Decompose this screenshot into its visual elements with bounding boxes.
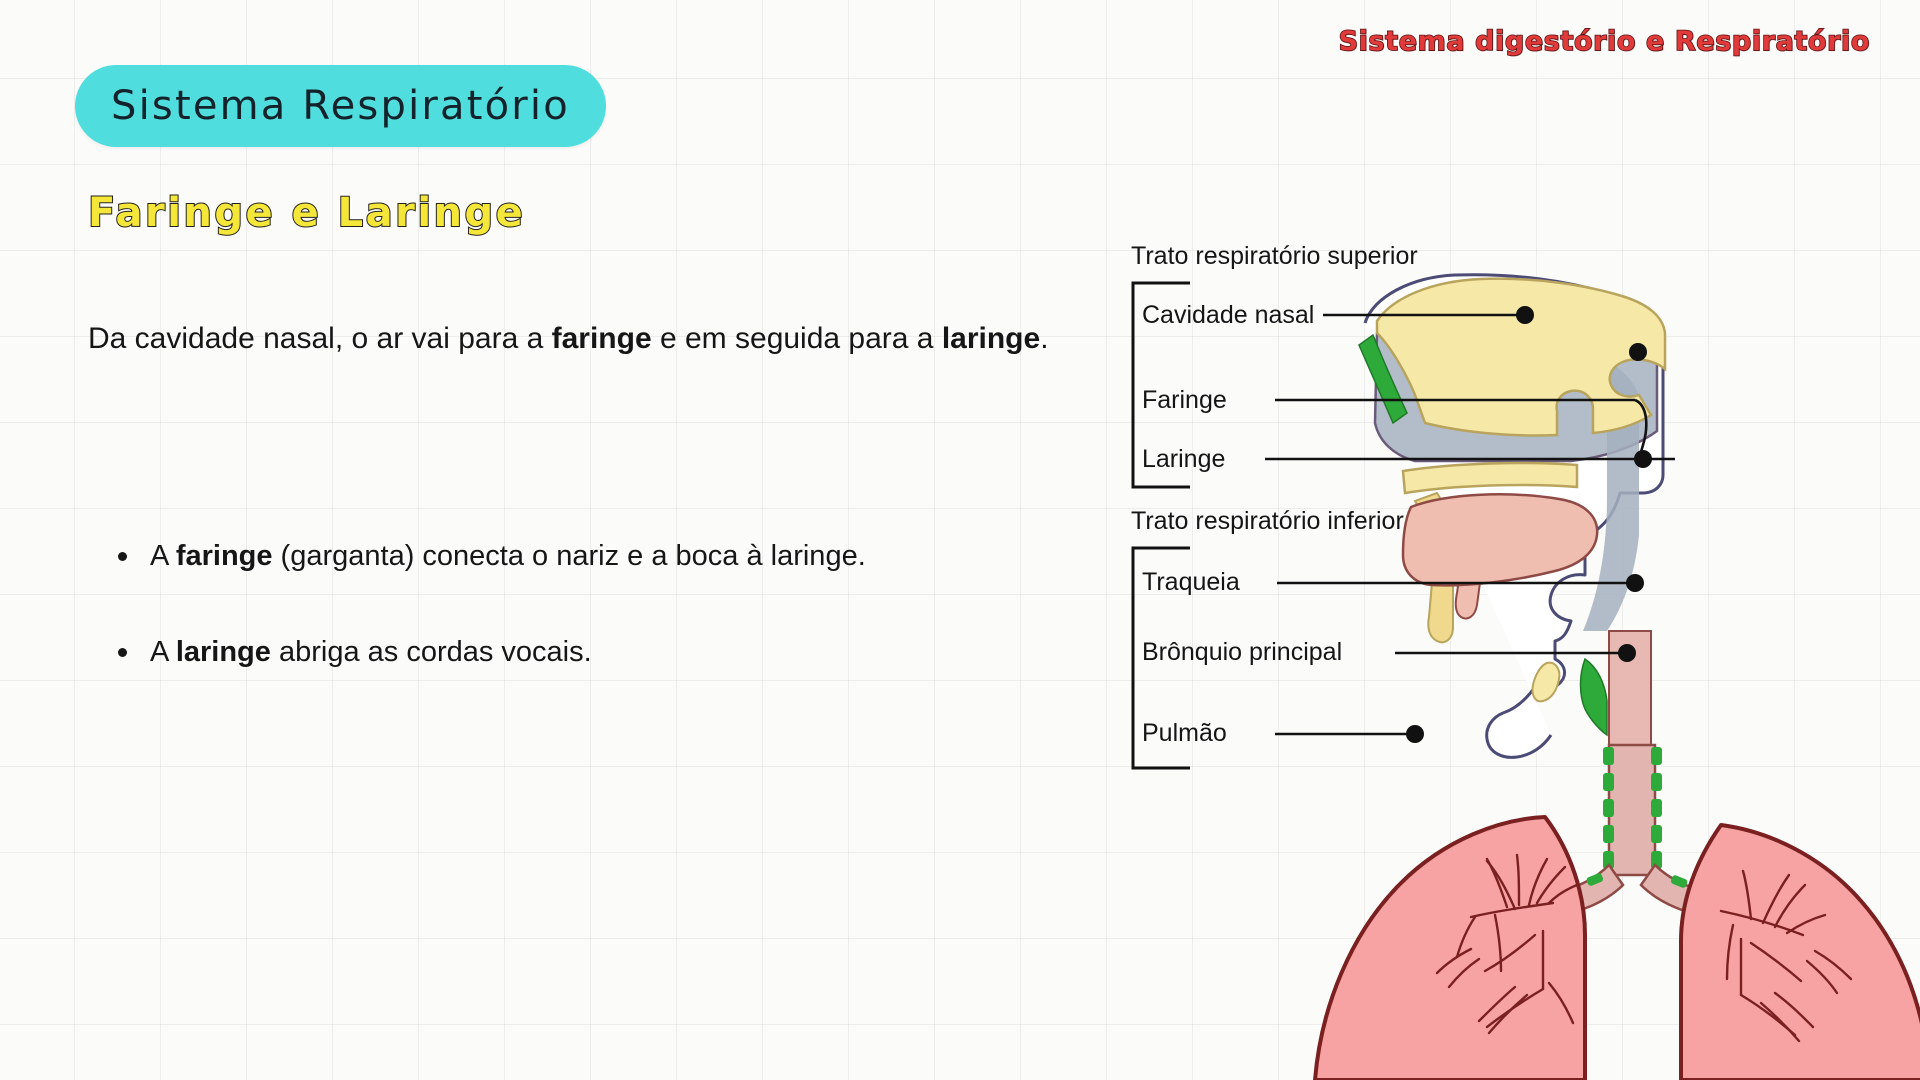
diagram-group-title-lower: Trato respiratório inferior <box>1131 507 1404 536</box>
larynx-mucosa <box>1581 659 1608 735</box>
bullet-1-bold: faringe <box>176 540 273 572</box>
bullet-2-text-part-2: abriga as cordas vocais. <box>271 636 592 668</box>
bullet-2-text-part-1: A <box>150 636 176 668</box>
page-title: Sistema Respiratório <box>111 83 570 129</box>
lead-text-part-1: Da cavidade nasal, o ar vai para a <box>88 322 552 355</box>
dot-cavidade-nasal <box>1516 306 1534 324</box>
diagram-label-laringe: Laringe <box>1142 445 1225 474</box>
dot-laringe <box>1634 450 1652 468</box>
trachea <box>1603 745 1662 875</box>
lead-paragraph: Da cavidade nasal, o ar vai para a farin… <box>88 320 1098 358</box>
right-lung <box>1681 825 1920 1080</box>
trachea-tube <box>1609 745 1655 875</box>
frontal-sinus-bone <box>1377 279 1665 436</box>
page-title-badge: Sistema Respiratório <box>75 65 606 147</box>
diagram-label-traqueia: Traqueia <box>1142 568 1240 597</box>
dot-bronquio <box>1618 644 1636 662</box>
head-cross-section <box>1359 275 1665 758</box>
section-heading: Faringe e Laringe <box>88 190 525 236</box>
diagram-label-faringe: Faringe <box>1142 386 1227 415</box>
left-lung <box>1315 817 1585 1080</box>
bullet-1-text-part-2: (garganta) conecta o nariz e a boca à la… <box>273 540 866 572</box>
lead-bold-laringe: laringe <box>942 322 1040 355</box>
dot-pulmao <box>1406 725 1424 743</box>
list-item: A faringe (garganta) conecta o nariz e a… <box>110 538 1100 574</box>
bullet-1-text-part-1: A <box>150 540 176 572</box>
diagram-label-bronquio-principal: Brônquio principal <box>1142 638 1342 667</box>
diagram-group-title-upper: Trato respiratório superior <box>1131 242 1418 271</box>
respiratory-system-diagram: Trato respiratório superior Trato respir… <box>1115 235 1920 1080</box>
lead-text-part-3: . <box>1040 322 1048 355</box>
diagram-label-pulmao: Pulmão <box>1142 719 1227 748</box>
bullet-list: A faringe (garganta) conecta o nariz e a… <box>110 538 1100 731</box>
lead-bold-faringe: faringe <box>552 322 652 355</box>
dot-traqueia <box>1626 574 1644 592</box>
page-header-title: Sistema digestório e Respiratório <box>1339 26 1870 57</box>
bullet-2-bold: laringe <box>176 636 271 668</box>
list-item: A laringe abriga as cordas vocais. <box>110 634 1100 670</box>
lead-text-part-2: e em seguida para a <box>652 322 942 355</box>
diagram-label-cavidade-nasal: Cavidade nasal <box>1142 301 1314 330</box>
dot-faringe <box>1629 343 1647 361</box>
